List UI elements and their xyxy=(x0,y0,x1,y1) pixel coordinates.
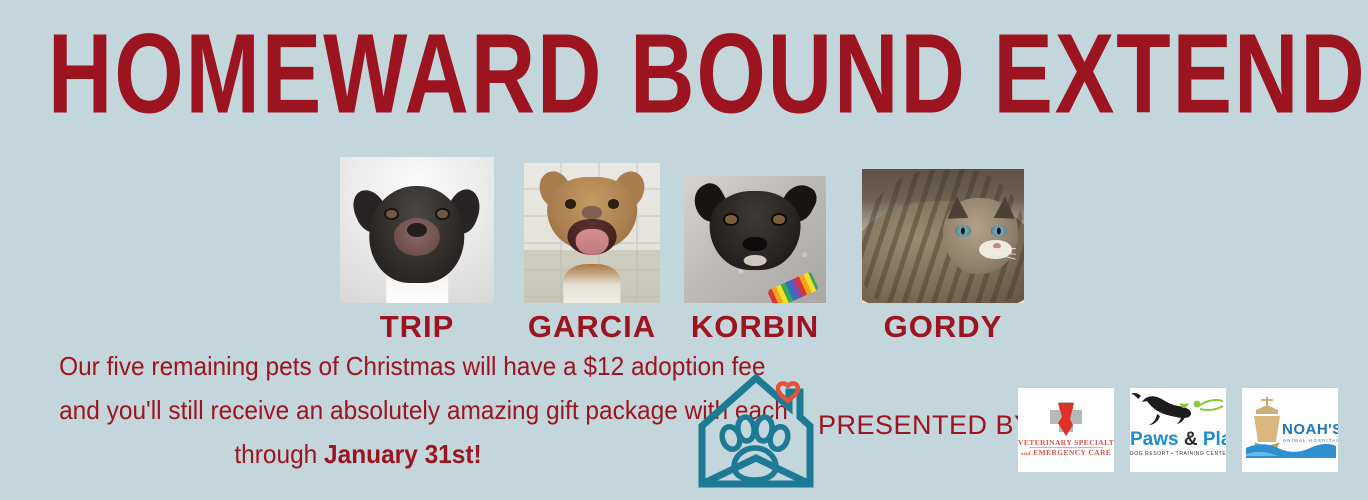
pet-photo-trip xyxy=(340,157,494,303)
sponsor-paws-wordmark: Paws & Play xyxy=(1130,430,1226,449)
pet-name-korbin: KORBIN xyxy=(691,309,819,345)
sponsor-noahs-tagline: ANIMAL HOSPITALS xyxy=(1283,438,1338,443)
sponsor-vsec-line1: VETERINARY SPECIALTY xyxy=(1018,438,1114,447)
promo-banner: HOMEWARD BOUND EXTENDED! TRIP xyxy=(0,0,1368,500)
sponsor-paws-word-left: Paws xyxy=(1130,429,1184,450)
promo-description: Our five remaining pets of Christmas wil… xyxy=(59,344,657,476)
presented-by-label: PRESENTED BY: xyxy=(818,410,1039,441)
promo-deadline: January 31st! xyxy=(324,439,482,469)
promo-line-1: Our five remaining pets of Christmas wil… xyxy=(59,344,657,388)
house-paw-heart-logo xyxy=(696,366,816,490)
pet-name-garcia: GARCIA xyxy=(528,309,656,345)
pet-photo-korbin xyxy=(684,176,826,303)
sponsor-logo-paws-and-play[interactable]: Paws & Play DOG RESORT • TRAINING CENTER xyxy=(1130,388,1226,472)
medical-cross-icon xyxy=(1018,388,1114,438)
pet-photo-garcia xyxy=(524,163,660,303)
promo-line-2: and you'll still receive an absolutely a… xyxy=(59,388,657,432)
sponsor-vsec-line2-main: EMERGENCY CARE xyxy=(1033,448,1111,457)
sponsor-logos: VETERINARY SPECIALTY and EMERGENCY CARE … xyxy=(1018,388,1350,472)
promo-line-3-prefix: through xyxy=(234,439,324,469)
pet-gallery: TRIP GARCIA xyxy=(0,157,1368,342)
sponsor-vsec-and: and xyxy=(1021,451,1031,457)
leaping-dog-icon xyxy=(1130,388,1226,432)
pet-photo-gordy xyxy=(862,169,1024,303)
sponsor-paws-ampersand: & xyxy=(1184,429,1198,450)
sponsor-logo-veterinary-specialty-emergency-care[interactable]: VETERINARY SPECIALTY and EMERGENCY CARE xyxy=(1018,388,1114,472)
sponsor-paws-tagline: DOG RESORT • TRAINING CENTER xyxy=(1130,451,1226,457)
page-title: HOMEWARD BOUND EXTENDED! xyxy=(48,18,1320,131)
sponsor-noahs-wordmark: NOAH'S xyxy=(1282,422,1338,437)
promo-line-3: through January 31st! xyxy=(59,432,657,476)
pet-card-trip[interactable]: TRIP xyxy=(340,157,494,303)
sponsor-vsec-line2: and EMERGENCY CARE xyxy=(1018,448,1114,457)
pet-name-trip: TRIP xyxy=(380,309,455,345)
pet-card-korbin[interactable]: KORBIN xyxy=(684,176,826,303)
pet-card-garcia[interactable]: GARCIA xyxy=(524,163,660,303)
pet-name-gordy: GORDY xyxy=(884,309,1003,345)
sponsor-logo-noahs-animal-hospitals[interactable]: NOAH'S ANIMAL HOSPITALS xyxy=(1242,388,1338,472)
sponsor-paws-word-right: Play xyxy=(1198,429,1226,450)
pet-card-gordy[interactable]: GORDY xyxy=(862,169,1024,303)
